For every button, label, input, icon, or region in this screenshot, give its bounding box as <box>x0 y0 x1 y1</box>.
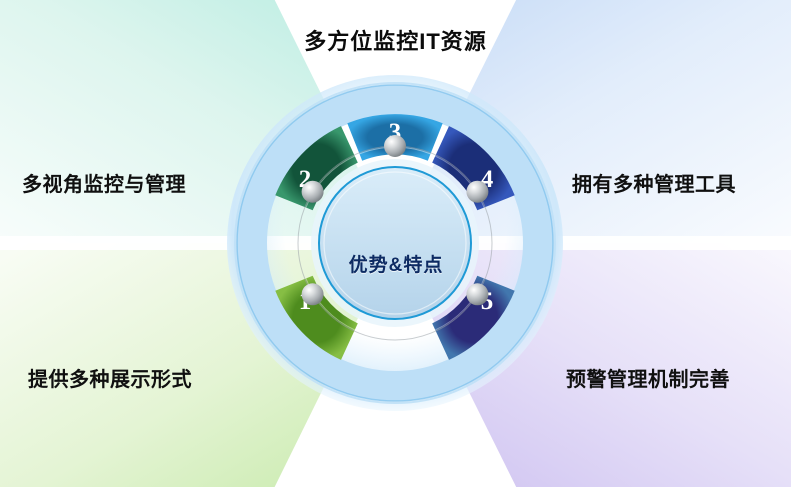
sphere-marker-1[interactable] <box>302 283 324 305</box>
center-circle[interactable] <box>319 167 471 319</box>
sphere-marker-5[interactable] <box>466 283 488 305</box>
label-bottom-right: 预警管理机制完善 <box>566 363 730 392</box>
label-top-left: 多视角监控与管理 <box>22 168 186 197</box>
label-top-right: 拥有多种管理工具 <box>572 168 736 197</box>
page-title: 多方位监控IT资源 <box>0 24 791 56</box>
diagram-canvas: 3 2 1 4 <box>0 0 791 487</box>
donut-wheel: 3 2 1 4 <box>0 0 791 487</box>
center-label: 优势&特点 <box>316 250 476 277</box>
sphere-marker-3[interactable] <box>384 135 406 157</box>
sphere-marker-2[interactable] <box>302 181 324 203</box>
sphere-marker-4[interactable] <box>466 181 488 203</box>
label-bottom-left: 提供多种展示形式 <box>28 363 192 392</box>
